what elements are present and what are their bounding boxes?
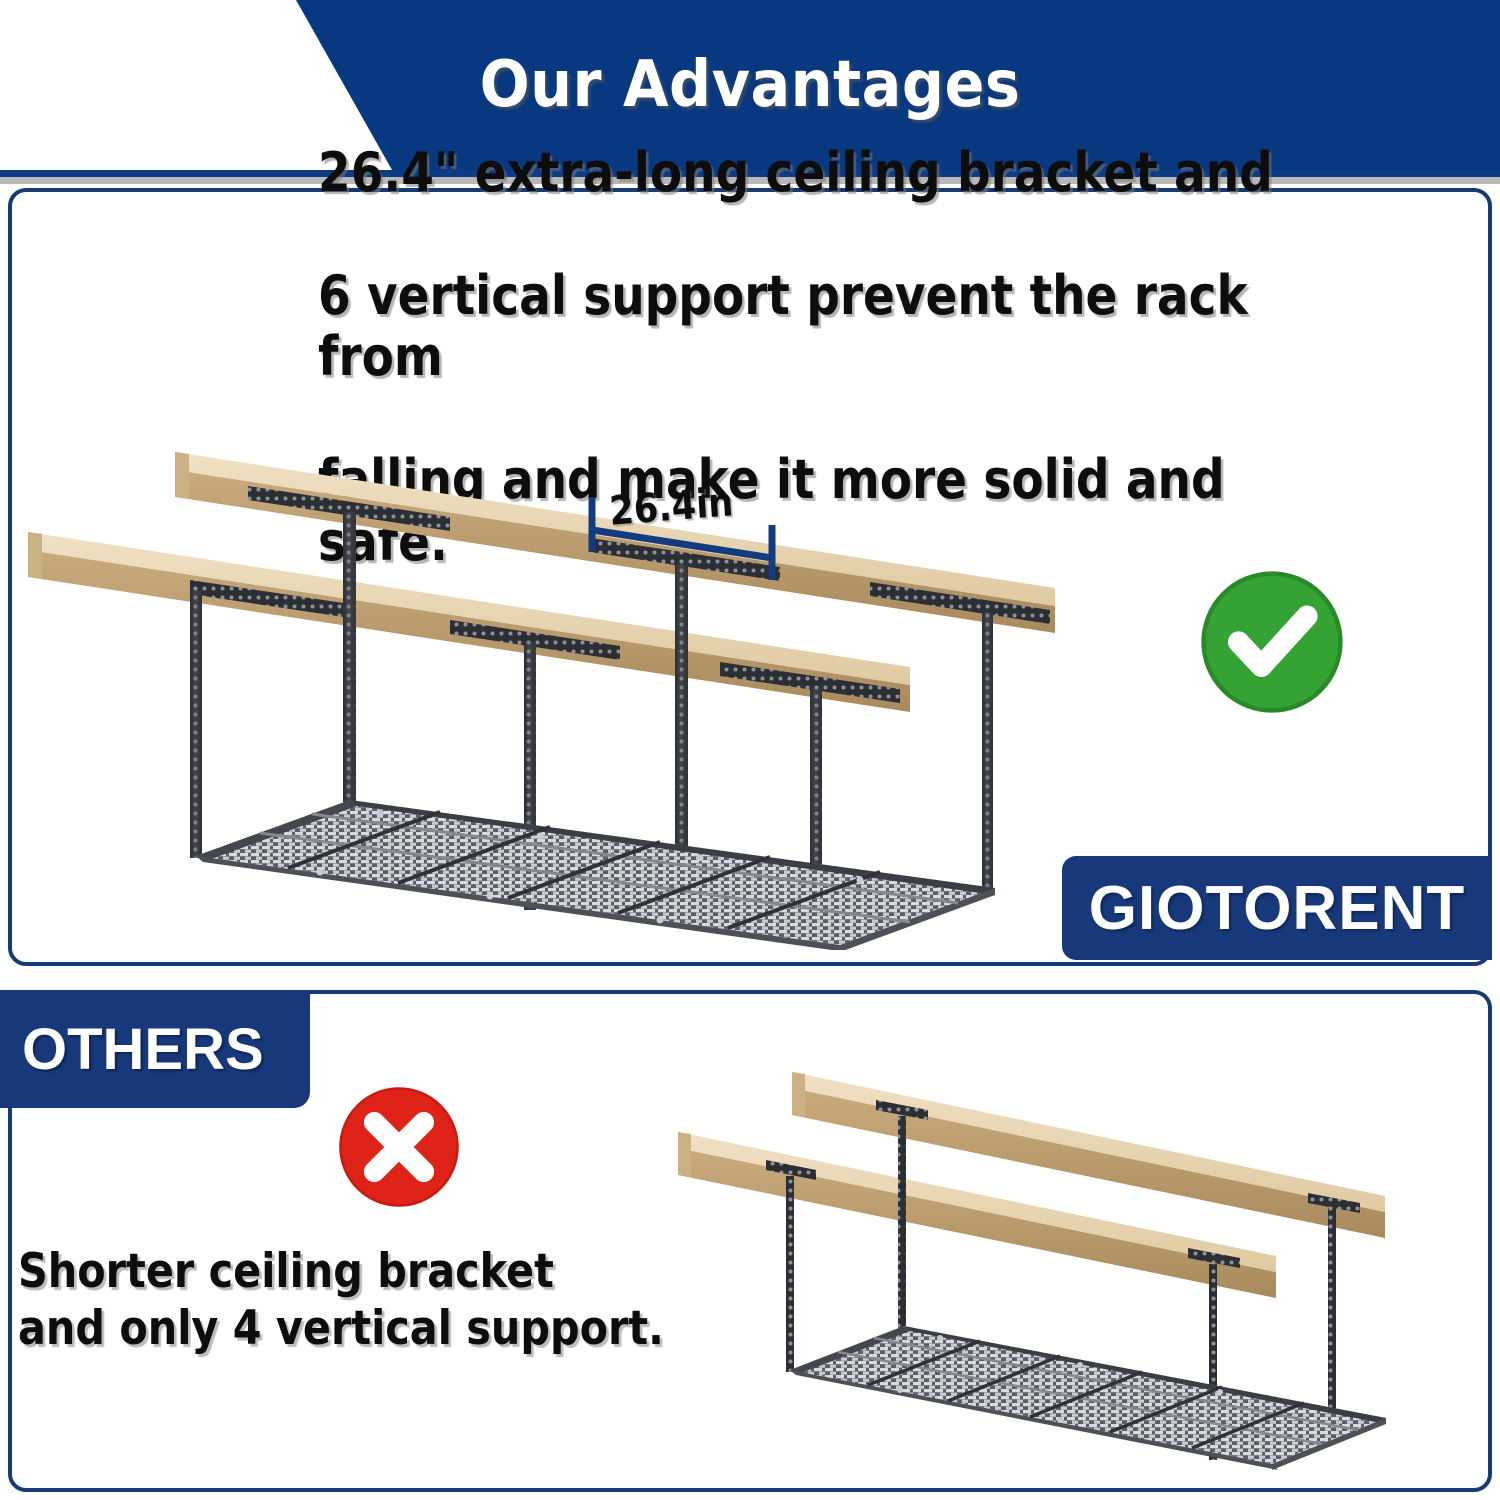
vertical-post-others-2: [1328, 1208, 1336, 1420]
vertical-post-back-2: [675, 564, 688, 856]
dimension-label: 26.4in: [608, 479, 735, 535]
mesh-deck: [196, 800, 995, 950]
others-badge-label: OTHERS: [22, 1016, 264, 1083]
brand-badge: GIOTORENT: [1062, 856, 1492, 960]
vertical-post-others-3: [786, 1176, 794, 1372]
red-cross-icon: [334, 1082, 464, 1212]
others-description: Shorter ceiling bracket and only 4 verti…: [18, 1243, 748, 1358]
headline-line-2: 6 vertical support prevent the rack from: [318, 265, 1310, 388]
others-text-line-2: and only 4 vertical support.: [18, 1300, 748, 1357]
green-check-icon: [1196, 566, 1348, 718]
vertical-post-back-3: [982, 612, 993, 888]
headline-line-1: 26.4" extra-long ceiling bracket and: [318, 142, 1310, 204]
others-badge: OTHERS: [0, 990, 310, 1108]
vertical-post-others-1: [898, 1116, 906, 1328]
brand-label: GIOTORENT: [1089, 873, 1465, 944]
others-text-line-1: Shorter ceiling bracket: [18, 1243, 748, 1300]
vertical-post-back-1: [343, 512, 356, 802]
advantage-product-image: [20, 440, 1060, 950]
others-product-image: [660, 1060, 1490, 1490]
vertical-post-front-1: [190, 590, 202, 858]
mesh-deck-others: [790, 1326, 1386, 1470]
